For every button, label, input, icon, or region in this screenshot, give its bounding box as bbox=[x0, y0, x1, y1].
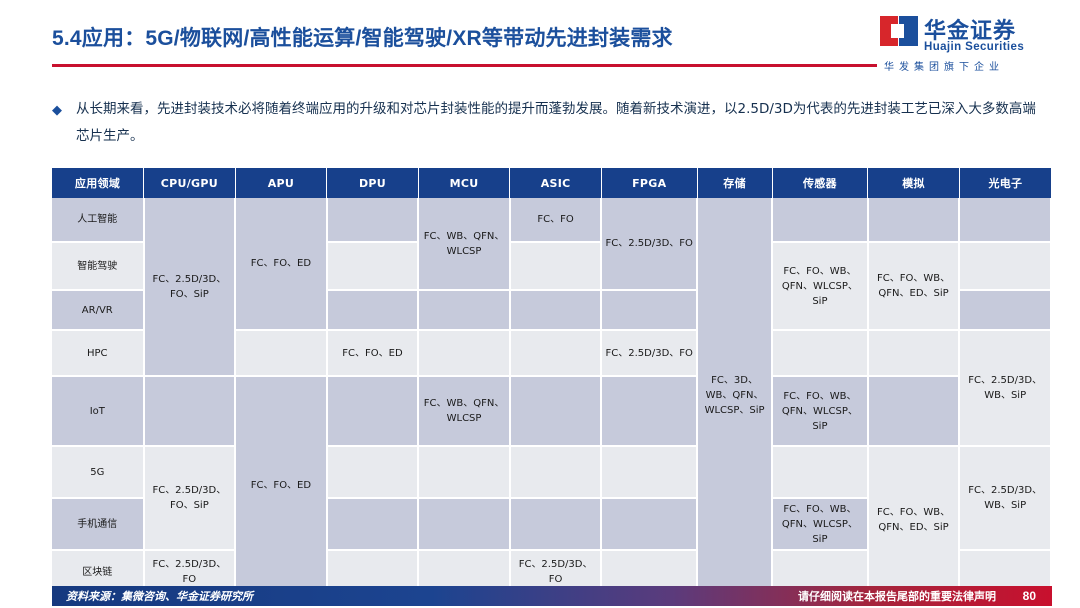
slide-header: 5.4应用：5G/物联网/高性能运算/智能驾驶/XR等带动先进封装需求 华金证券… bbox=[0, 0, 1080, 78]
cell-mcu-ar-vr bbox=[418, 290, 510, 330]
col-header-cpu-gpu: CPU/GPU bbox=[144, 168, 236, 198]
slide-root: 5.4应用：5G/物联网/高性能运算/智能驾驶/XR等带动先进封装需求 华金证券… bbox=[0, 0, 1080, 608]
logo-notch bbox=[891, 24, 904, 38]
cell-asic-5g bbox=[510, 446, 602, 498]
cell-fpga-5g bbox=[601, 446, 697, 498]
cell-dpu-ar-vr bbox=[327, 290, 419, 330]
col-header-optoelectronics: 光电子 bbox=[959, 168, 1051, 198]
table-header-row: 应用领域 CPU/GPU APU DPU MCU ASIC FPGA 存储 传感… bbox=[52, 168, 1051, 198]
col-header-mcu: MCU bbox=[418, 168, 510, 198]
row-header-hpc: HPC bbox=[52, 330, 144, 376]
cell-mcu-iot: FC、WB、QFN、WLCSP bbox=[418, 376, 510, 446]
cell-mcu-hpc bbox=[418, 330, 510, 376]
col-header-application-domain: 应用领域 bbox=[52, 168, 144, 198]
cell-apu-iot-blockchain: FC、FO、ED bbox=[235, 376, 327, 594]
cell-analog-5g-blockchain: FC、FO、WB、QFN、ED、SiP bbox=[868, 446, 960, 594]
footer-disclaimer-text: 请仔细阅读在本报告尾部的重要法律声明 bbox=[798, 588, 996, 605]
title-underline-rule bbox=[52, 64, 877, 67]
table-row: IoT FC、FO、ED FC、WB、QFN、WLCSP FC、FO、WB、QF… bbox=[52, 376, 1051, 446]
cell-asic-iot bbox=[510, 376, 602, 446]
cell-apu-ai-arvr: FC、FO、ED bbox=[235, 198, 327, 330]
table-row: 5G FC、2.5D/3D、FO、SiP FC、FO、WB、QFN、ED、SiP… bbox=[52, 446, 1051, 498]
col-header-storage: 存储 bbox=[697, 168, 772, 198]
cell-asic-hpc bbox=[510, 330, 602, 376]
footer-source-text: 资料来源：集微咨询、华金证券研究所 bbox=[66, 588, 253, 605]
cell-sensor-driving-arvr: FC、FO、WB、QFN、WLCSP、SiP bbox=[772, 242, 868, 330]
cell-apu-hpc bbox=[235, 330, 327, 376]
slide-footer: 资料来源：集微咨询、华金证券研究所 请仔细阅读在本报告尾部的重要法律声明 80 bbox=[52, 586, 1052, 606]
cell-opto-ar-vr bbox=[959, 290, 1051, 330]
cell-dpu-smart-driving bbox=[327, 242, 419, 290]
cell-sensor-ai bbox=[772, 198, 868, 242]
page-title: 5.4应用：5G/物联网/高性能运算/智能驾驶/XR等带动先进封装需求 bbox=[52, 22, 673, 52]
cell-sensor-mobile-comm: FC、FO、WB、QFN、WLCSP、SiP bbox=[772, 498, 868, 550]
row-header-iot: IoT bbox=[52, 376, 144, 446]
cell-cpu-gpu-iot bbox=[144, 376, 236, 446]
cell-cpu-gpu-5g-mobile: FC、2.5D/3D、FO、SiP bbox=[144, 446, 236, 550]
cell-sensor-hpc bbox=[772, 330, 868, 376]
cell-opto-5g-mobile: FC、2.5D/3D、WB、SiP bbox=[959, 446, 1051, 550]
cell-mcu-mobile-comm bbox=[418, 498, 510, 550]
cell-asic-ai: FC、FO bbox=[510, 198, 602, 242]
cell-dpu-5g bbox=[327, 446, 419, 498]
col-header-apu: APU bbox=[235, 168, 327, 198]
cell-opto-ai bbox=[959, 198, 1051, 242]
cell-asic-smart-driving bbox=[510, 242, 602, 290]
cell-fpga-hpc: FC、2.5D/3D、FO bbox=[601, 330, 697, 376]
cell-fpga-mobile-comm bbox=[601, 498, 697, 550]
logo-tagline: 华发集团旗下企业 bbox=[884, 58, 1004, 73]
row-header-ar-vr: AR/VR bbox=[52, 290, 144, 330]
row-header-smart-driving: 智能驾驶 bbox=[52, 242, 144, 290]
cell-storage-all: FC、3D、WB、QFN、WLCSP、SiP bbox=[697, 198, 772, 594]
diamond-bullet-icon: ◆ bbox=[52, 96, 62, 123]
row-header-5g: 5G bbox=[52, 446, 144, 498]
col-header-asic: ASIC bbox=[510, 168, 602, 198]
cell-dpu-mobile-comm bbox=[327, 498, 419, 550]
col-header-sensor: 传感器 bbox=[772, 168, 868, 198]
cell-sensor-5g bbox=[772, 446, 868, 498]
col-header-analog: 模拟 bbox=[868, 168, 960, 198]
cell-analog-iot bbox=[868, 376, 960, 446]
cell-mcu-ai-auto: FC、WB、QFN、WLCSP bbox=[418, 198, 510, 290]
bullet-block: ◆ 从长期来看，先进封装技术必将随着终端应用的升级和对芯片封装性能的提升而蓬勃发… bbox=[52, 96, 1052, 150]
cell-dpu-iot bbox=[327, 376, 419, 446]
logo-english-name: Huajin Securities bbox=[924, 41, 1024, 53]
cell-fpga-ar-vr bbox=[601, 290, 697, 330]
cell-analog-ai bbox=[868, 198, 960, 242]
footer-page-number: 80 bbox=[1023, 588, 1036, 605]
col-header-fpga: FPGA bbox=[601, 168, 697, 198]
cell-fpga-ai-auto: FC、2.5D/3D、FO bbox=[601, 198, 697, 290]
packaging-matrix-table-wrap: 应用领域 CPU/GPU APU DPU MCU ASIC FPGA 存储 传感… bbox=[52, 168, 1052, 597]
cell-analog-hpc bbox=[868, 330, 960, 376]
brand-logo: 华金证券 Huajin Securities 华发集团旗下企业 bbox=[878, 12, 1068, 72]
row-header-ai: 人工智能 bbox=[52, 198, 144, 242]
cell-opto-smart-driving bbox=[959, 242, 1051, 290]
cell-sensor-iot: FC、FO、WB、QFN、WLCSP、SiP bbox=[772, 376, 868, 446]
logo-mark-icon bbox=[880, 16, 918, 46]
cell-asic-ar-vr bbox=[510, 290, 602, 330]
bullet-item: ◆ 从长期来看，先进封装技术必将随着终端应用的升级和对芯片封装性能的提升而蓬勃发… bbox=[52, 96, 1052, 150]
table-row: 人工智能 FC、2.5D/3D、FO、SiP FC、FO、ED FC、WB、QF… bbox=[52, 198, 1051, 242]
cell-mcu-5g bbox=[418, 446, 510, 498]
col-header-dpu: DPU bbox=[327, 168, 419, 198]
cell-asic-mobile-comm bbox=[510, 498, 602, 550]
cell-dpu-ai bbox=[327, 198, 419, 242]
packaging-matrix-table: 应用领域 CPU/GPU APU DPU MCU ASIC FPGA 存储 传感… bbox=[52, 168, 1052, 595]
row-header-mobile-comm: 手机通信 bbox=[52, 498, 144, 550]
cell-fpga-iot bbox=[601, 376, 697, 446]
cell-cpu-gpu-ai-hpc: FC、2.5D/3D、FO、SiP bbox=[144, 198, 236, 376]
cell-dpu-hpc: FC、FO、ED bbox=[327, 330, 419, 376]
cell-opto-hpc-iot: FC、2.5D/3D、WB、SiP bbox=[959, 330, 1051, 446]
bullet-paragraph-text: 从长期来看，先进封装技术必将随着终端应用的升级和对芯片封装性能的提升而蓬勃发展。… bbox=[76, 96, 1036, 150]
cell-analog-driving-arvr: FC、FO、WB、QFN、ED、SiP bbox=[868, 242, 960, 330]
